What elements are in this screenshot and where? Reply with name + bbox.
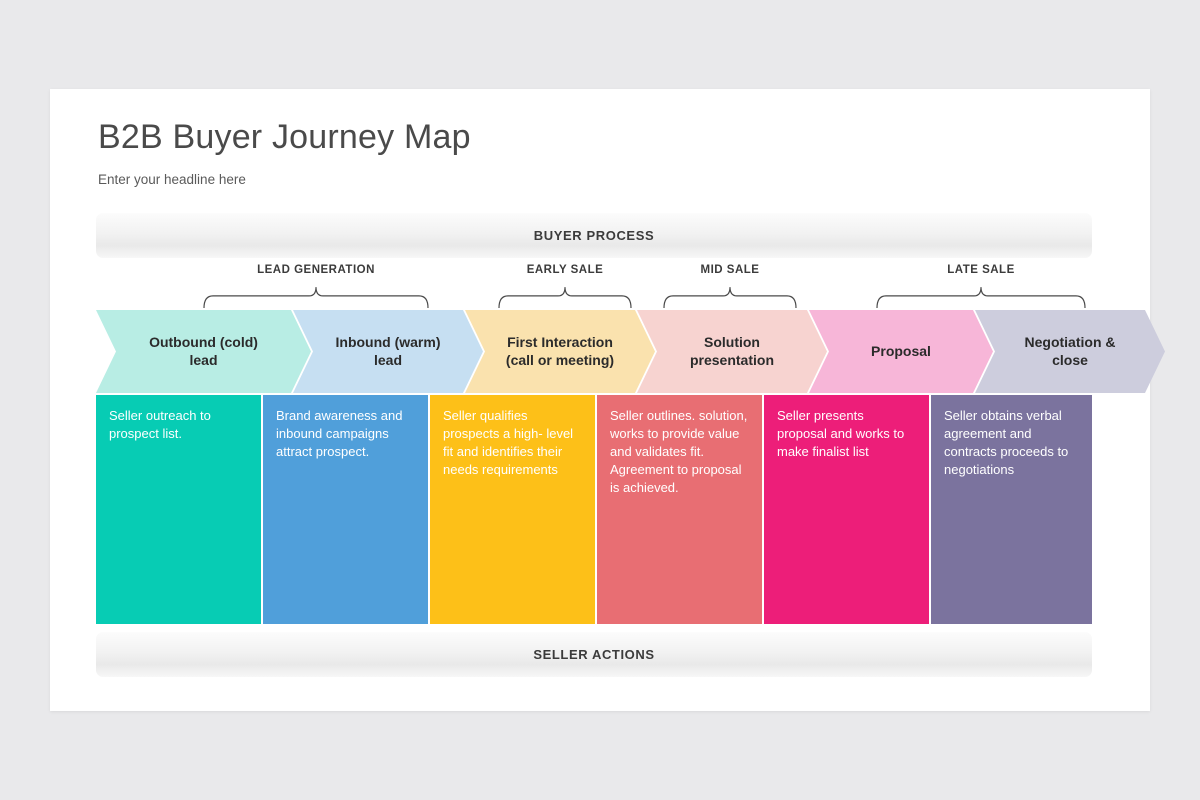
chevron-label: Solution presentation: [664, 334, 800, 370]
seller-action-column[interactable]: Seller outreach to prospect list.: [96, 395, 261, 624]
seller-action-column[interactable]: Brand awareness and inbound campaigns at…: [263, 395, 428, 624]
page-subtitle: Enter your headline here: [98, 172, 246, 187]
chevron-label: Negotiation & close: [999, 334, 1142, 370]
stage-brace-icon: [497, 286, 633, 308]
journey-stage-chevron[interactable]: Outbound (cold) lead: [96, 310, 311, 393]
seller-action-column[interactable]: Seller presents proposal and works to ma…: [764, 395, 929, 624]
buyer-process-banner: BUYER PROCESS: [96, 213, 1092, 258]
stage-label: LEAD GENERATION: [202, 264, 430, 276]
page-title: B2B Buyer Journey Map: [98, 118, 471, 157]
seller-action-text: Seller obtains verbal agreement and cont…: [931, 395, 1092, 479]
chevron-label: First Interaction (call or meeting): [480, 334, 640, 370]
stage-label: MID SALE: [662, 264, 798, 276]
stage-brace-icon: [202, 286, 430, 308]
seller-action-text: Seller qualifies prospects a high- level…: [430, 395, 595, 479]
slide-card: B2B Buyer Journey Map Enter your headlin…: [50, 89, 1150, 711]
stage-group-1: EARLY SALE: [497, 264, 633, 309]
journey-stage-chevron[interactable]: Negotiation & close: [975, 310, 1165, 393]
journey-stage-chevron[interactable]: Solution presentation: [637, 310, 827, 393]
seller-actions-banner: SELLER ACTIONS: [96, 632, 1092, 677]
stage-label-row: LEAD GENERATIONEARLY SALEMID SALELATE SA…: [50, 264, 1150, 309]
stage-label: LATE SALE: [875, 264, 1087, 276]
journey-stage-chevron[interactable]: First Interaction (call or meeting): [465, 310, 655, 393]
chevron-label: Proposal: [845, 343, 957, 361]
buyer-process-label: BUYER PROCESS: [534, 228, 655, 243]
chevron-label: Inbound (warm) lead: [310, 334, 467, 370]
seller-action-text: Brand awareness and inbound campaigns at…: [263, 395, 428, 461]
seller-action-text: Seller outreach to prospect list.: [96, 395, 261, 443]
stage-brace-icon: [875, 286, 1087, 308]
seller-action-column[interactable]: Seller outlines. solution, works to prov…: [597, 395, 762, 624]
chevron-label: Outbound (cold) lead: [123, 334, 284, 370]
stage-group-2: MID SALE: [662, 264, 798, 309]
journey-stage-chevron[interactable]: Proposal: [809, 310, 993, 393]
stage-group-0: LEAD GENERATION: [202, 264, 430, 309]
seller-action-column[interactable]: Seller qualifies prospects a high- level…: [430, 395, 595, 624]
stage-group-3: LATE SALE: [875, 264, 1087, 309]
seller-action-column-row: Seller outreach to prospect list.Brand a…: [96, 395, 1092, 624]
seller-action-text: Seller outlines. solution, works to prov…: [597, 395, 762, 497]
seller-action-text: Seller presents proposal and works to ma…: [764, 395, 929, 461]
seller-actions-label: SELLER ACTIONS: [533, 647, 654, 662]
stage-label: EARLY SALE: [497, 264, 633, 276]
chevron-row: Outbound (cold) leadInbound (warm) leadF…: [96, 310, 1107, 393]
seller-action-column[interactable]: Seller obtains verbal agreement and cont…: [931, 395, 1092, 624]
journey-stage-chevron[interactable]: Inbound (warm) lead: [293, 310, 483, 393]
stage-brace-icon: [662, 286, 798, 308]
